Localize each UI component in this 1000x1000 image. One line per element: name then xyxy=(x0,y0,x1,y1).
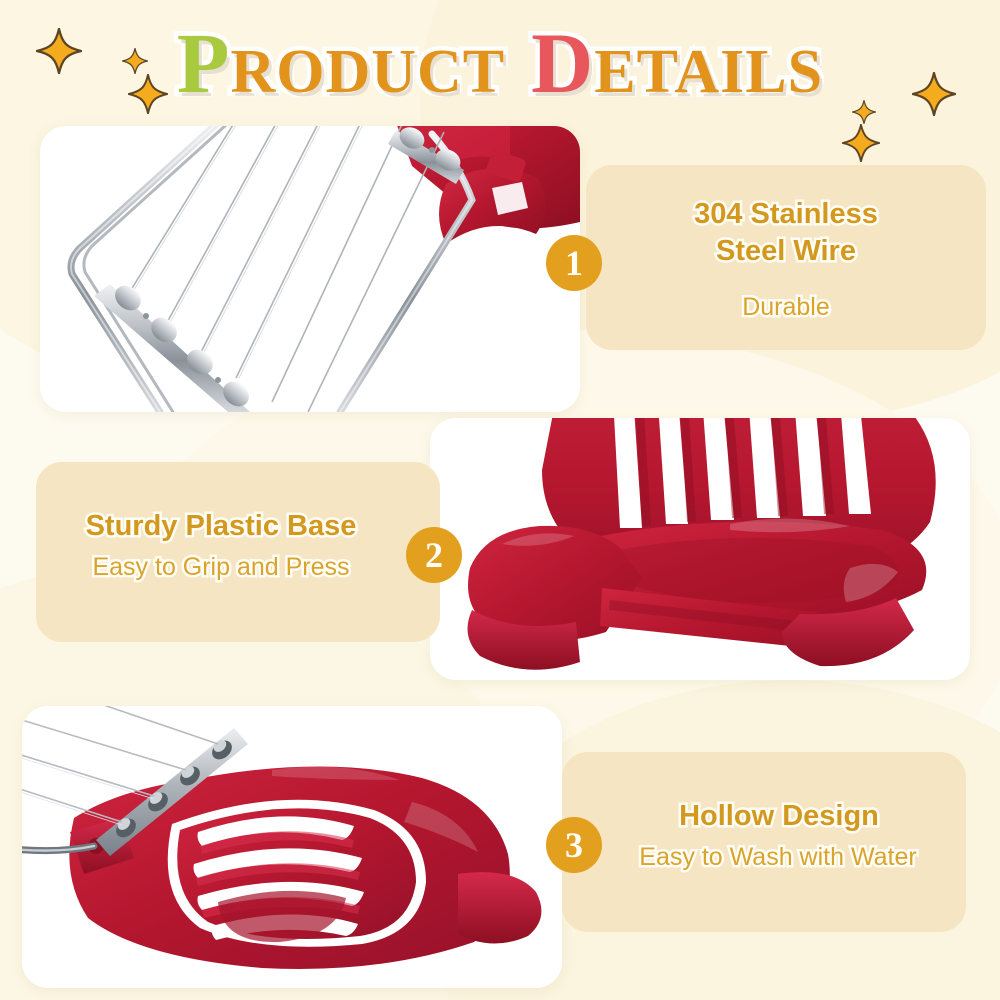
feature-1-subtitle: Durable xyxy=(586,292,986,323)
feature-1-title: 304 Stainless Steel Wire xyxy=(586,196,986,270)
sparkle-top-right-mid xyxy=(842,124,880,162)
title-segment-4: ETAILS xyxy=(594,41,823,103)
feature-3-title: Hollow Design xyxy=(592,798,966,835)
feature-1-number-badge: 1 xyxy=(546,235,602,291)
feature-2-subtitle: Easy to Grip and Press xyxy=(36,552,406,583)
egg-slicer-wire-frame-image xyxy=(40,126,580,412)
feature-3-subtitle: Easy to Wash with Water xyxy=(578,842,978,873)
feature-1-photo-card xyxy=(40,126,580,412)
title-segment-1: RODUCT xyxy=(230,41,505,103)
feature-3-number-badge: 3 xyxy=(546,817,602,873)
title-segment-3: D xyxy=(531,20,594,106)
feature-2-number-badge: 2 xyxy=(406,527,462,583)
red-plastic-base-image xyxy=(430,418,970,680)
title-bar: PRODUCTDETAILS xyxy=(0,8,1000,116)
title-segment-0: P xyxy=(177,20,231,106)
red-slicer-hollow-cradle-image xyxy=(22,706,562,988)
feature-2-title: Sturdy Plastic Base xyxy=(36,508,406,545)
feature-3-photo-card xyxy=(22,706,562,988)
feature-2-photo-card xyxy=(430,418,970,680)
page-title: PRODUCTDETAILS xyxy=(0,20,1000,106)
infographic-root: PRODUCTDETAILS xyxy=(0,0,1000,1000)
